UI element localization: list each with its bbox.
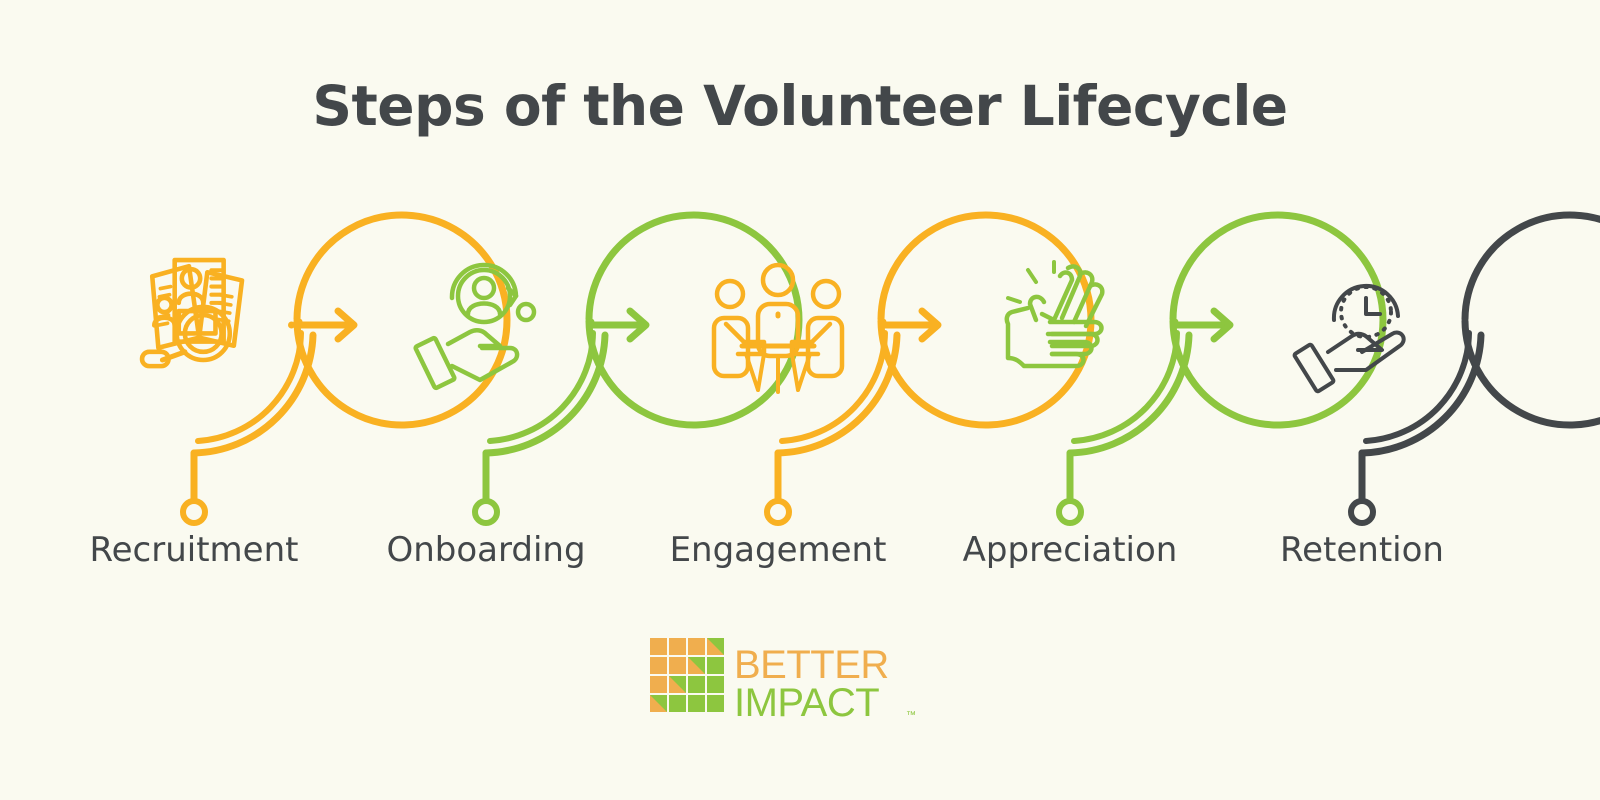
page-title: Steps of the Volunteer Lifecycle [0, 74, 1600, 138]
logo-text-impact: IMPACT [734, 681, 879, 725]
lifecycle-steps-row: Recruitment [0, 200, 1600, 600]
lifecycle-step-retention[interactable]: Retention [1216, 200, 1508, 600]
hand-holding-user-profile-icon [415, 265, 534, 388]
lifecycle-step-onboarding[interactable]: Onboarding [340, 200, 632, 600]
logo-trademark: ™ [906, 710, 916, 721]
lifecycle-step-recruitment[interactable]: Recruitment [48, 200, 340, 600]
better-impact-logo-svg: BETTER IMPACT ™ [650, 638, 922, 726]
resume-documents-magnifier-icon [142, 260, 242, 366]
lifecycle-step-engagement[interactable]: Engagement [632, 200, 924, 600]
infographic-canvas: Steps of the Volunteer Lifecycle [0, 0, 1600, 800]
lifecycle-step-appreciation[interactable]: Appreciation [924, 200, 1216, 600]
step-label-retention: Retention [1176, 530, 1548, 570]
clapping-hands-icon [1007, 262, 1103, 366]
people-meeting-table-icon [714, 265, 842, 392]
four-by-four-diagonal-grid-icon [650, 638, 724, 712]
hand-holding-clock-icon [1294, 286, 1404, 392]
better-impact-logo[interactable]: BETTER IMPACT ™ [650, 638, 950, 728]
